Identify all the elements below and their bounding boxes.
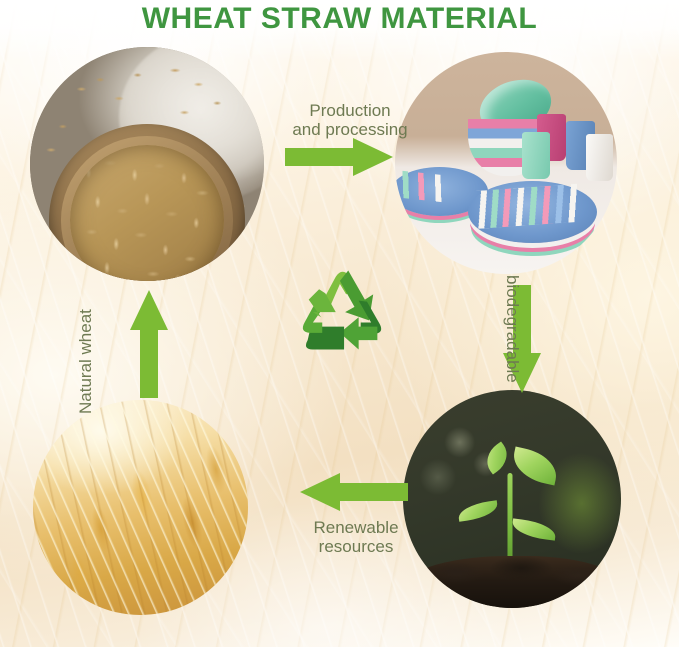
photo-tableware-image <box>395 52 617 274</box>
photo-wheat-field-image <box>33 400 248 615</box>
photo-wheat-grains-image <box>30 47 264 281</box>
wheat-field-awns <box>33 400 248 615</box>
recycle-icon <box>290 258 394 362</box>
photo-wheat-field <box>33 400 248 615</box>
arrow-left-icon <box>300 473 408 511</box>
seedling-stem <box>507 473 512 565</box>
label-production-and-processing: Production and processing <box>288 101 412 139</box>
bowl-grain-fill <box>70 145 223 281</box>
photo-seedling-image <box>403 390 621 608</box>
photo-seedling <box>403 390 621 608</box>
arrow-up-icon <box>130 290 168 398</box>
photo-wheat-straw-tableware <box>395 52 617 274</box>
arrow-right-icon <box>285 138 393 176</box>
label-natural-wheat: Natural wheat <box>76 294 95 414</box>
label-biodegradable: biodegradable <box>503 275 522 395</box>
tableware-mint-cup <box>522 132 551 179</box>
tableware-white-cup <box>586 134 613 181</box>
photo-wheat-grains <box>30 47 264 281</box>
label-renewable-resources: Renewable resources <box>296 518 416 556</box>
page-title: WHEAT STRAW MATERIAL <box>0 2 679 36</box>
wheat-straw-infographic: WHEAT STRAW MATERIAL <box>0 0 679 647</box>
